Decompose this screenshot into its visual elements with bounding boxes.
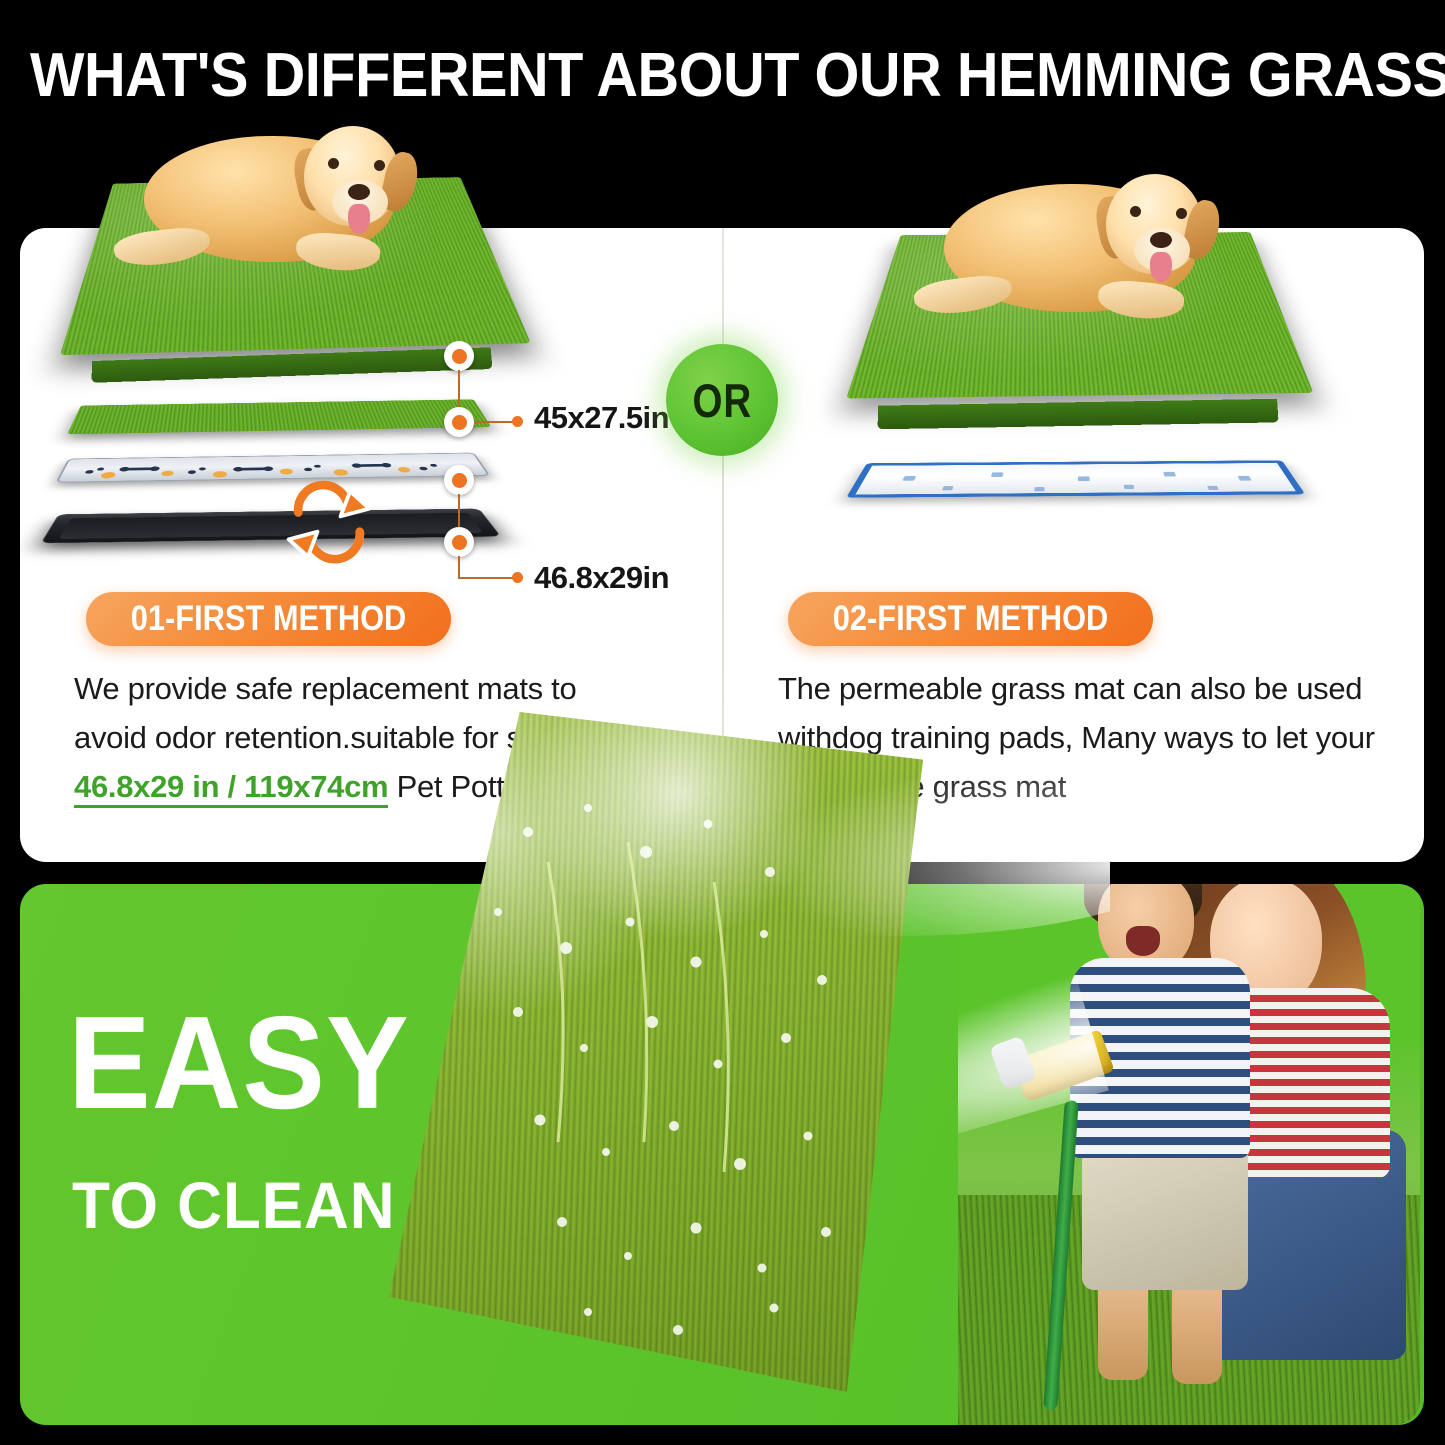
method-badge-01: 01-FIRST METHOD xyxy=(86,592,451,646)
callout-endpoint-2 xyxy=(512,572,523,583)
or-badge: OR xyxy=(666,344,778,456)
callout-dot-tray xyxy=(444,527,474,557)
hose-spraying-photo xyxy=(958,884,1420,1425)
or-badge-label: OR xyxy=(692,373,751,428)
to-clean-subhead: TO CLEAN xyxy=(72,1172,395,1238)
patterned-tray-liner xyxy=(55,453,490,483)
easy-headline: EASY xyxy=(68,1000,410,1126)
callout-line-vertical-2 xyxy=(458,494,460,530)
page-title: WHAT'S DIFFERENT ABOUT OUR HEMMING GRASS… xyxy=(30,42,1323,110)
swap-arrows-icon xyxy=(281,476,377,572)
callout-label-grass-mat: 45x27.5in xyxy=(534,400,669,436)
boy-mouth xyxy=(1126,926,1160,956)
dog-training-pad xyxy=(846,460,1305,497)
callout-line-vertical-3 xyxy=(458,556,460,578)
paw-bone-pattern-icon xyxy=(57,453,489,482)
callout-dot-liner xyxy=(444,465,474,495)
callout-endpoint-1 xyxy=(512,416,523,427)
grass-mat-replacement-layer xyxy=(67,399,491,434)
method-01-highlight: 46.8x29 in / 119x74cm xyxy=(74,769,388,808)
left-product-image xyxy=(48,118,548,568)
callout-dot-grass-mat-2 xyxy=(444,407,474,437)
callout-line-horizontal-2 xyxy=(458,577,518,579)
boy-shorts xyxy=(1082,1140,1248,1290)
training-pad-pattern-icon xyxy=(852,463,1299,498)
black-collection-tray xyxy=(40,509,501,544)
callout-dot-grass-mat xyxy=(444,341,474,371)
method-badge-01-label: 01-FIRST METHOD xyxy=(131,599,407,639)
callout-label-tray: 46.8x29in xyxy=(534,560,669,596)
grass-mat-permeable-edge xyxy=(878,399,1279,430)
boy-leg-right xyxy=(1172,1274,1222,1384)
method-badge-02-label: 02-FIRST METHOD xyxy=(833,599,1109,639)
right-product-image xyxy=(848,150,1318,550)
water-droplets-icon xyxy=(378,712,923,1392)
infographic-stage: WHAT'S DIFFERENT ABOUT OUR HEMMING GRASS… xyxy=(0,0,1445,1445)
wet-grass-mat xyxy=(378,712,923,1392)
method-badge-02: 02-FIRST METHOD xyxy=(788,592,1153,646)
